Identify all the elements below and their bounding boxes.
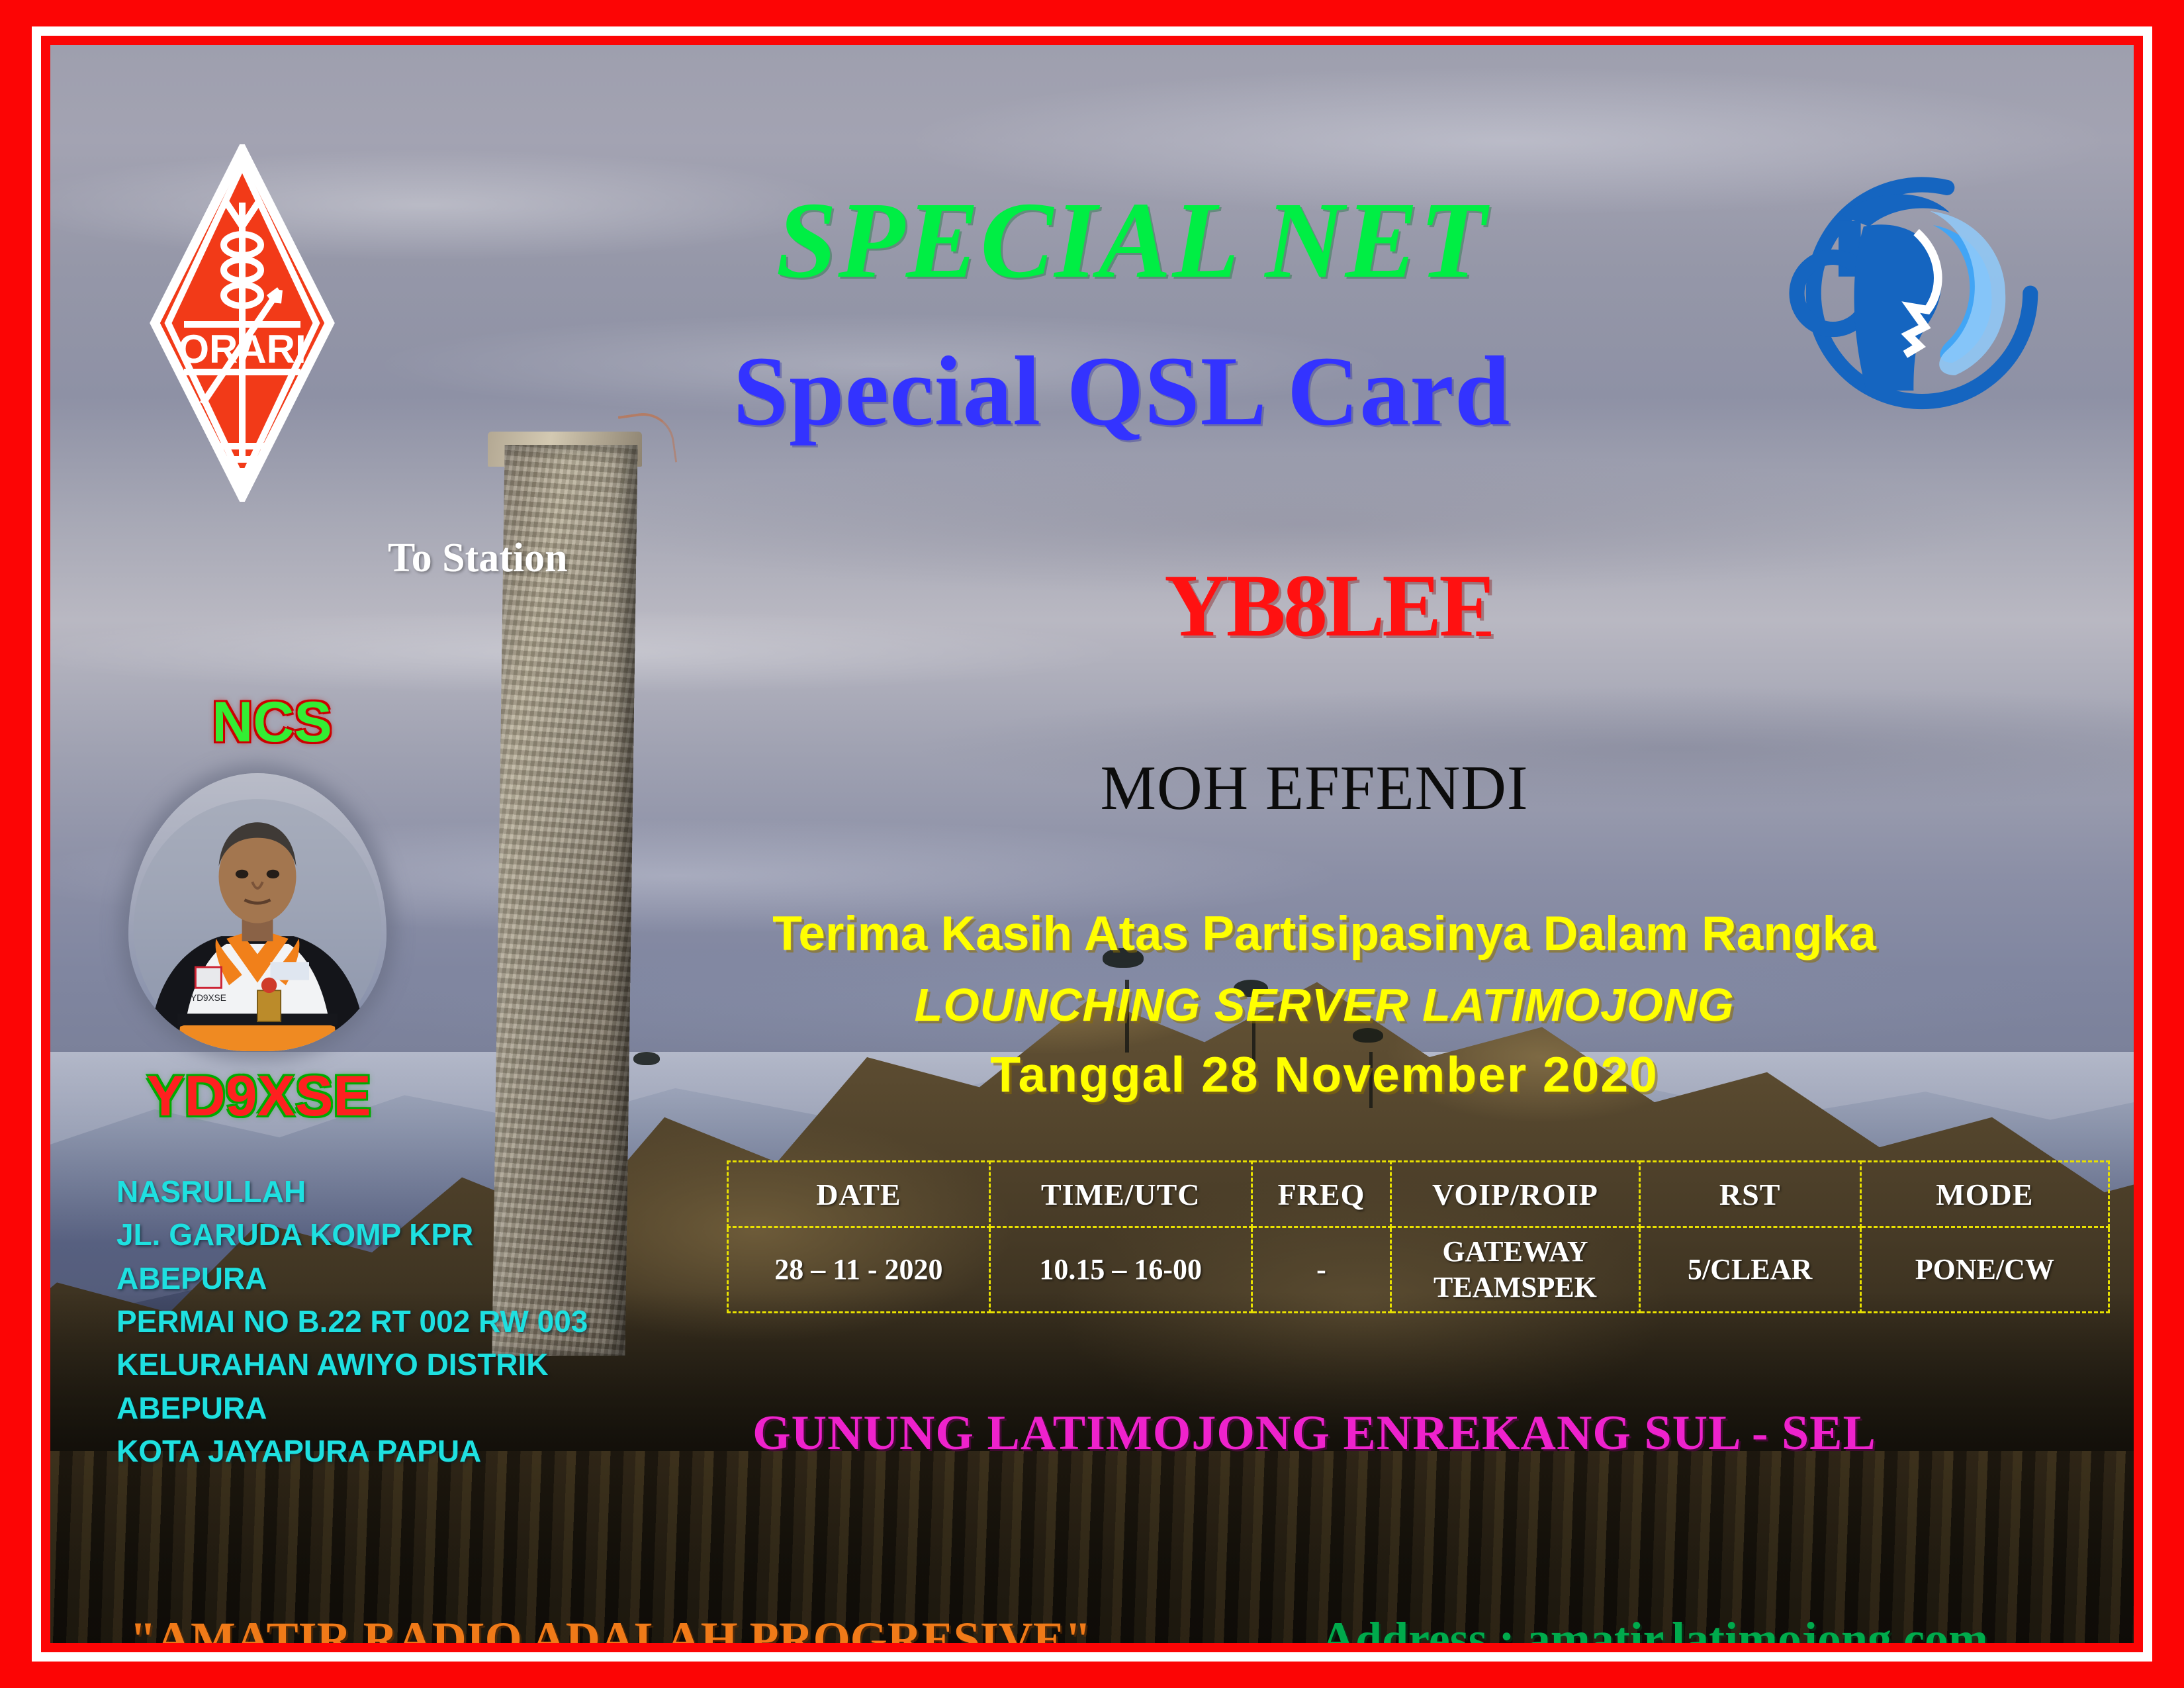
event-thanks-line: Terima Kasih Atas Partisipasinya Dalam R… [745, 910, 1903, 958]
cell-freq: - [1251, 1227, 1391, 1313]
cell-voip-line1: GATEWAY [1392, 1234, 1637, 1270]
column-header-date: DATE [728, 1162, 990, 1227]
page-subtitle: Special QSL Card [50, 342, 2134, 441]
address-block: NASRULLAH JL. GARUDA KOMP KPR ABEPURA PE… [116, 1170, 588, 1473]
callsign-suffix: EF [1382, 557, 1491, 655]
website-address: Address : amatir.latimojong.com [1321, 1615, 1988, 1643]
cell-mode: PONE/CW [1860, 1227, 2109, 1313]
column-header-voip: VOIP/ROIP [1391, 1162, 1639, 1227]
page-title: SPECIAL NET [50, 185, 2134, 295]
to-station-label: To Station [388, 538, 568, 579]
cell-date: 28 – 11 - 2020 [728, 1227, 990, 1313]
event-date-line: Tanggal 28 November 2020 [745, 1050, 1903, 1100]
column-header-rst: RST [1639, 1162, 1860, 1227]
address-line: ABEPURA [116, 1387, 588, 1430]
ncs-label: NCS [186, 694, 358, 751]
station-callsign: YB8LEF [1030, 561, 1625, 651]
cell-voip: GATEWAY TEAMSPEK [1391, 1227, 1639, 1313]
column-header-time: TIME/UTC [989, 1162, 1251, 1227]
address-line: ABEPURA [116, 1257, 588, 1300]
column-header-freq: FREQ [1251, 1162, 1391, 1227]
qsl-card: ORARI [0, 0, 2184, 1688]
cell-rst: 5/CLEAR [1639, 1227, 1860, 1313]
card-background-photo: ORARI [50, 45, 2134, 1643]
column-header-mode: MODE [1860, 1162, 2109, 1227]
ncs-callsign: YD9XSE [136, 1068, 381, 1125]
operator-portrait: YD9XSE [128, 773, 387, 1051]
card-white-frame: ORARI [32, 26, 2152, 1662]
cell-voip-line2: TEAMSPEK [1392, 1270, 1637, 1305]
slogan-text: "AMATIR RADIO ADALAH PROGRESIVE" [130, 1615, 1091, 1643]
card-inner-red-frame: ORARI [41, 36, 2143, 1652]
table-row: 28 – 11 - 2020 10.15 – 16-00 - GATEWAY T… [728, 1227, 2109, 1313]
address-line: KOTA JAYAPURA PAPUA [116, 1430, 588, 1473]
address-line: KELURAHAN AWIYO DISTRIK [116, 1343, 588, 1386]
address-line: NASRULLAH [116, 1170, 588, 1213]
callsign-prefix: YB8L [1164, 557, 1382, 655]
table-header-row: DATE TIME/UTC FREQ VOIP/ROIP RST MODE [728, 1162, 2109, 1227]
portrait-badge-callsign: YD9XSE [191, 993, 226, 1003]
qso-log-table: DATE TIME/UTC FREQ VOIP/ROIP RST MODE 28… [727, 1160, 2110, 1313]
event-title-line: LOUNCHING SERVER LATIMOJONG [745, 982, 1903, 1028]
address-line: JL. GARUDA KOMP KPR [116, 1213, 588, 1256]
cell-time: 10.15 – 16-00 [989, 1227, 1251, 1313]
location-line: GUNUNG LATIMOJONG ENREKANG SUL - SEL [686, 1409, 1943, 1458]
operator-name: MOH EFFENDI [950, 757, 1678, 820]
address-line: PERMAI NO B.22 RT 002 RW 003 [116, 1300, 588, 1343]
